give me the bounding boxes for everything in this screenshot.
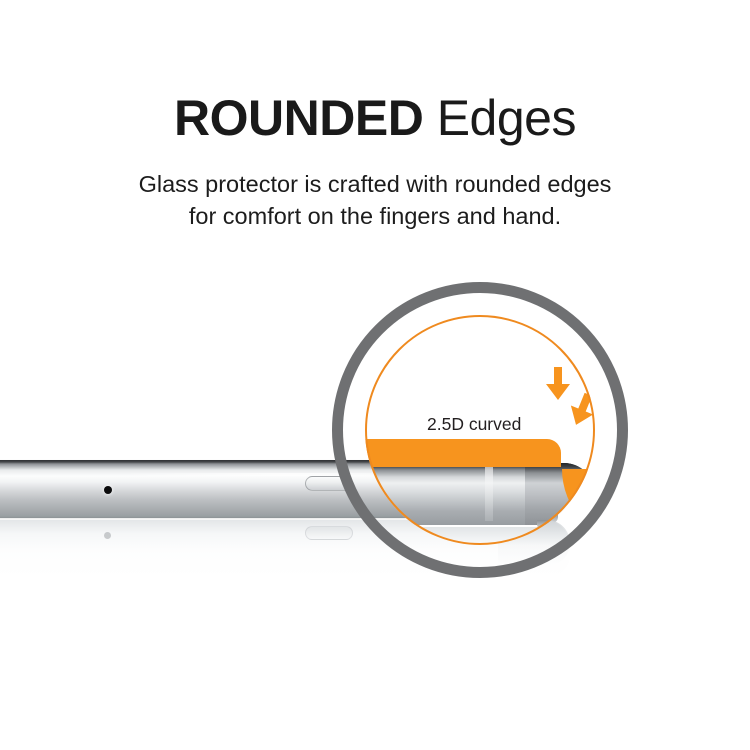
page-subtitle: Glass protector is crafted with rounded … bbox=[0, 168, 750, 232]
page-subtitle-line-2: for comfort on the fingers and hand. bbox=[0, 200, 750, 232]
magnifier-lens-content: 2.5D curved bbox=[365, 315, 595, 545]
magnifier-callout: 2.5D curved bbox=[332, 282, 628, 578]
curved-edge-label: 2.5D curved bbox=[427, 413, 521, 435]
page-title-light: Edges bbox=[423, 90, 576, 146]
page-title: ROUNDED Edges bbox=[0, 88, 750, 148]
phone-microphone-hole bbox=[104, 486, 112, 494]
magnified-antenna-band bbox=[485, 467, 493, 521]
phone-reflection-microphone bbox=[104, 532, 111, 539]
product-feature-image: ROUNDED Edges Glass protector is crafted… bbox=[0, 0, 750, 750]
page-subtitle-line-1: Glass protector is crafted with rounded … bbox=[0, 168, 750, 200]
pressure-arrow-1-icon bbox=[545, 367, 571, 401]
page-title-bold: ROUNDED bbox=[174, 90, 423, 146]
